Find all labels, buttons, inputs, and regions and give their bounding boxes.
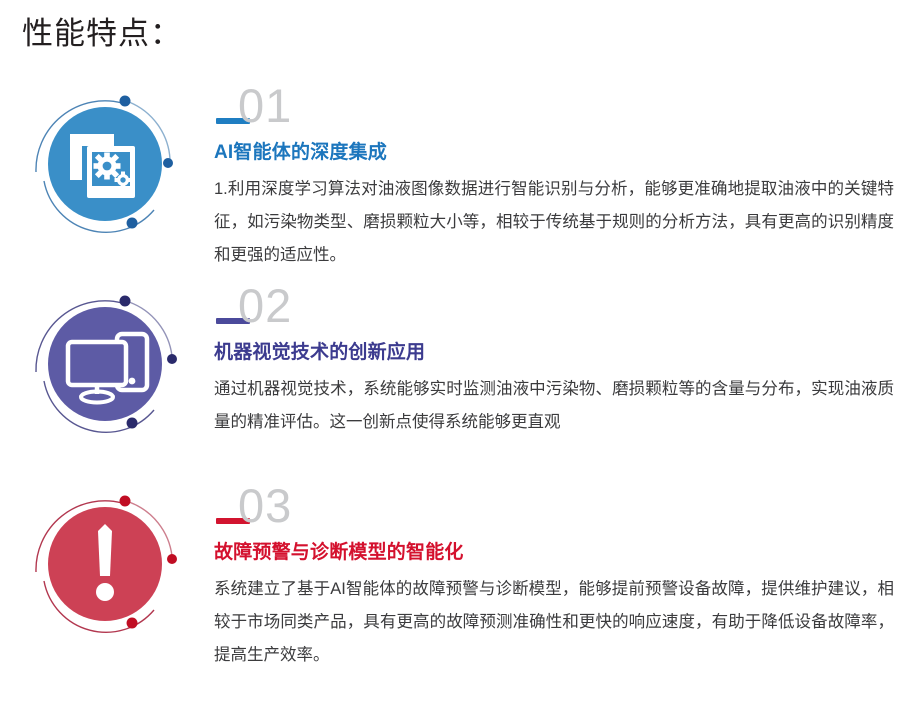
page-title: 性能特点： bbox=[22, 14, 182, 54]
feature-number: 02 bbox=[238, 278, 292, 334]
feature-badge-02 bbox=[22, 284, 188, 450]
feature-highlights-page: 性能特点： bbox=[0, 0, 924, 704]
feature-badge-01 bbox=[22, 84, 188, 250]
feature-body: 1.利用深度学习算法对油液图像数据进行智能识别与分析，能够更准确地提取油液中的关… bbox=[214, 173, 894, 272]
feature-item-03: 03 故障预警与诊断模型的智能化 系统建立了基于AI智能体的故障预警与诊断模型，… bbox=[0, 484, 924, 684]
feature-badge-03 bbox=[22, 484, 188, 650]
feature-number: 01 bbox=[238, 78, 292, 134]
feature-item-01: 01 AI智能体的深度集成 1.利用深度学习算法对油液图像数据进行智能识别与分析… bbox=[0, 84, 924, 274]
feature-number: 03 bbox=[238, 478, 292, 534]
feature-title: AI智能体的深度集成 bbox=[214, 140, 914, 166]
feature-number-row-02: 02 bbox=[214, 284, 914, 336]
feature-item-02: 02 机器视觉技术的创新应用 通过机器视觉技术，系统能够实时监测油液中污染物、磨… bbox=[0, 284, 924, 454]
feature-title: 机器视觉技术的创新应用 bbox=[214, 340, 914, 366]
feature-content-03: 03 故障预警与诊断模型的智能化 系统建立了基于AI智能体的故障预警与诊断模型，… bbox=[214, 484, 914, 672]
feature-number-row-01: 01 bbox=[214, 84, 914, 136]
feature-content-02: 02 机器视觉技术的创新应用 通过机器视觉技术，系统能够实时监测油液中污染物、磨… bbox=[214, 284, 914, 439]
feature-number-row-03: 03 bbox=[214, 484, 914, 536]
feature-title: 故障预警与诊断模型的智能化 bbox=[214, 540, 914, 566]
image-settings-icon bbox=[22, 84, 188, 250]
exclamation-alert-icon bbox=[22, 484, 188, 650]
feature-body: 通过机器视觉技术，系统能够实时监测油液中污染物、磨损颗粒等的含量与分布，实现油液… bbox=[214, 373, 894, 439]
feature-content-01: 01 AI智能体的深度集成 1.利用深度学习算法对油液图像数据进行智能识别与分析… bbox=[214, 84, 914, 272]
monitor-phone-icon bbox=[22, 284, 188, 450]
feature-body: 系统建立了基于AI智能体的故障预警与诊断模型，能够提前预警设备故障，提供维护建议… bbox=[214, 573, 894, 672]
